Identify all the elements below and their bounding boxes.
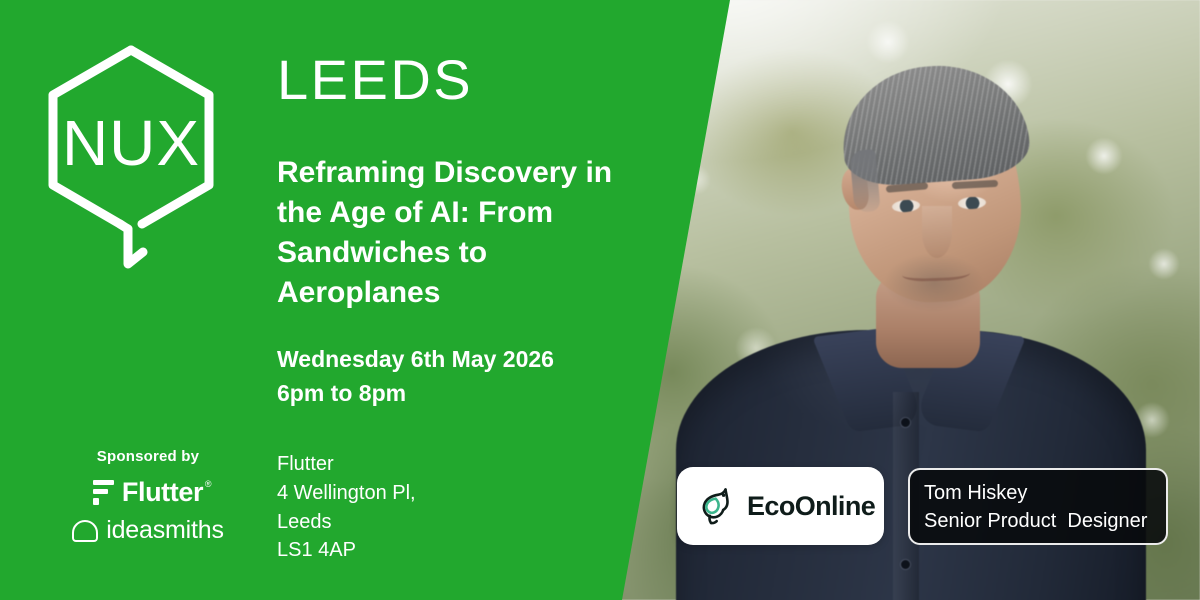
shirt-button xyxy=(901,560,910,569)
event-datetime: Wednesday 6th May 2026 6pm to 8pm xyxy=(277,342,554,410)
event-venue: Flutter 4 Wellington Pl, Leeds LS1 4AP xyxy=(277,450,416,565)
talk-title-line: the Age of AI: From xyxy=(277,193,667,233)
talk-title-line: Reframing Discovery in xyxy=(277,153,667,193)
ideasmiths-arch-icon xyxy=(72,520,98,542)
ideasmiths-wordmark: ideasmiths xyxy=(106,518,224,543)
speaker-role: Senior Product Designer xyxy=(924,507,1166,535)
venue-line: Flutter xyxy=(277,450,416,479)
flutter-wordmark-text: Flutter xyxy=(122,477,203,507)
nux-logo: NUX xyxy=(42,42,220,280)
venue-line: Leeds xyxy=(277,508,416,537)
svg-text:NUX: NUX xyxy=(62,107,200,179)
page-title: LEEDS xyxy=(277,52,473,108)
flutter-bars-icon xyxy=(93,480,114,505)
ecoonline-wordmark: EcoOnline xyxy=(747,493,875,520)
talk-title: Reframing Discovery in the Age of AI: Fr… xyxy=(277,153,667,313)
sponsor-logo-ideasmiths: ideasmiths xyxy=(40,518,256,543)
sponsored-by-label: Sponsored by xyxy=(40,448,256,465)
talk-title-line: Aeroplanes xyxy=(277,273,667,313)
speaker-name: Tom Hiskey xyxy=(924,479,1166,507)
speaker-name-plate: Tom Hiskey Senior Product Designer xyxy=(908,468,1168,545)
eco-leaf-bird-icon xyxy=(695,485,737,527)
trademark-icon: ® xyxy=(205,480,211,489)
speaker-nose xyxy=(922,206,952,258)
venue-line: 4 Wellington Pl, xyxy=(277,479,416,508)
talk-title-line: Sandwiches to xyxy=(277,233,667,273)
venue-line: LS1 4AP xyxy=(277,536,416,565)
speaker-sideburn xyxy=(849,149,880,213)
event-date: Wednesday 6th May 2026 xyxy=(277,342,554,376)
event-time: 6pm to 8pm xyxy=(277,376,554,410)
event-banner: NUX LEEDS Reframing Discovery in the Age… xyxy=(0,0,1200,600)
sponsors-block: Sponsored by Flutter® ideasmiths xyxy=(40,448,256,555)
company-badge-ecoonline: EcoOnline xyxy=(677,467,884,545)
flutter-wordmark: Flutter® xyxy=(122,479,203,506)
sponsor-logo-flutter: Flutter® xyxy=(40,479,256,506)
shirt-button xyxy=(901,418,910,427)
